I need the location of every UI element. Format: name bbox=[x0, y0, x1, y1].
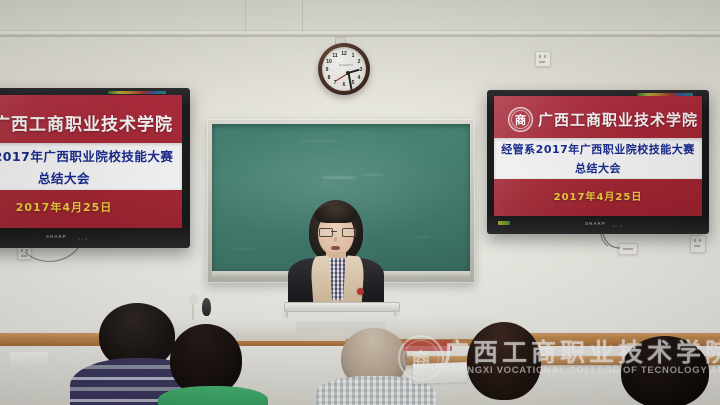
school-name-left: 广西工商职业技术学院 bbox=[0, 110, 173, 135]
slide-right: 商 广西工商职业技术学院 经管系2017年广西职业院校技能大赛 总结大会 201… bbox=[494, 96, 702, 216]
photograph-scene: 12 1 2 3 4 5 6 7 8 9 10 11 QUARTZ bbox=[0, 0, 720, 405]
display-left[interactable]: 商 广西工商职业技术学院 经管系2017年广西职业院校技能大赛 总结大会 201… bbox=[0, 88, 190, 248]
paper-handout-center bbox=[413, 362, 468, 384]
slide-left: 商 广西工商职业技术学院 经管系2017年广西职业院校技能大赛 总结大会 201… bbox=[0, 95, 182, 228]
presenter-glasses-left-lens bbox=[319, 228, 333, 237]
red-folder-on-desk bbox=[404, 340, 452, 351]
desk-row-back-left bbox=[146, 318, 346, 341]
display-right-screen: 商 广西工商职业技术学院 经管系2017年广西职业院校技能大赛 总结大会 201… bbox=[494, 96, 702, 216]
clock-number-11: 11 bbox=[331, 53, 339, 59]
clock-number-9: 9 bbox=[323, 67, 331, 73]
clock-face: 12 1 2 3 4 5 6 7 8 9 10 11 QUARTZ bbox=[322, 47, 366, 91]
clock-number-6: 6 bbox=[340, 82, 348, 88]
school-name-right: 广西工商职业技术学院 bbox=[538, 109, 698, 130]
slide-title-line2-right: 总结大会 bbox=[575, 160, 621, 176]
presenter-lapel-badge bbox=[357, 288, 364, 295]
display-right[interactable]: 商 广西工商职业技术学院 经管系2017年广西职业院校技能大赛 总结大会 201… bbox=[487, 90, 709, 234]
slide-title-line2-left: 总结大会 bbox=[38, 168, 90, 187]
slide-date-left: 2017年4月25日 bbox=[0, 199, 182, 215]
clock-number-10: 10 bbox=[325, 59, 333, 65]
clock-center-pin bbox=[346, 71, 350, 75]
presenter-glasses-right-lens bbox=[342, 228, 356, 237]
clock-number-8: 8 bbox=[325, 75, 333, 81]
display-right-led-strip bbox=[637, 93, 693, 96]
display-right-brand-logo: SHARP bbox=[585, 221, 606, 226]
clock-number-12: 12 bbox=[340, 51, 348, 57]
audience-woman-green-top-shirt bbox=[158, 386, 268, 405]
display-right-power-led bbox=[498, 221, 510, 225]
slide-title-line1-right: 经管系2017年广西职业院校技能大赛 bbox=[501, 141, 695, 157]
clock-brand-text: QUARTZ bbox=[339, 63, 353, 67]
display-left-led-strip bbox=[108, 91, 166, 94]
slide-date-right: 2017年4月25日 bbox=[494, 188, 702, 203]
display-left-screen: 商 广西工商职业技术学院 经管系2017年广西职业院校技能大赛 总结大会 201… bbox=[0, 95, 182, 228]
wall-clock: 12 1 2 3 4 5 6 7 8 9 10 11 QUARTZ bbox=[318, 43, 370, 95]
desk-microphone-head bbox=[189, 294, 197, 305]
clock-number-2: 2 bbox=[355, 59, 363, 65]
paper-handout-left bbox=[10, 352, 48, 368]
desk-microphone-gooseneck bbox=[202, 298, 211, 316]
seal-logo-right: 商 bbox=[508, 107, 533, 132]
display-left-brand-logo: SHARP bbox=[46, 234, 67, 239]
slide-title-line1-left: 经管系2017年广西职业院校技能大赛 bbox=[0, 146, 173, 165]
